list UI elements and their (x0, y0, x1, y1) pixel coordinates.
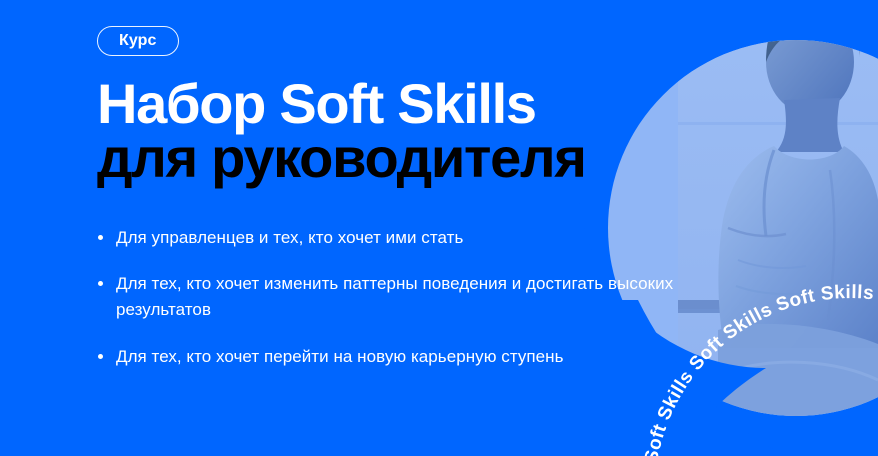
hero-content: Курс Набор Soft Skills для руководителя … (97, 0, 757, 456)
list-item: Для тех, кто хочет изменить паттерны пов… (97, 271, 737, 323)
course-badge: Курс (97, 26, 179, 56)
headline-line-2: для руководителя (97, 131, 757, 185)
audience-list: Для управленцев и тех, кто хочет ими ста… (97, 225, 737, 370)
figure-head (766, 10, 854, 114)
hero-banner: Soft Skills Soft Skills Soft Skills Курс… (0, 0, 878, 456)
headline-line-1: Набор Soft Skills (97, 77, 757, 131)
figure-neck (776, 98, 844, 152)
page-title: Набор Soft Skills для руководителя (97, 77, 757, 185)
list-item: Для управленцев и тех, кто хочет ими ста… (97, 225, 737, 251)
list-item: Для тех, кто хочет перейти на новую карь… (97, 344, 737, 370)
